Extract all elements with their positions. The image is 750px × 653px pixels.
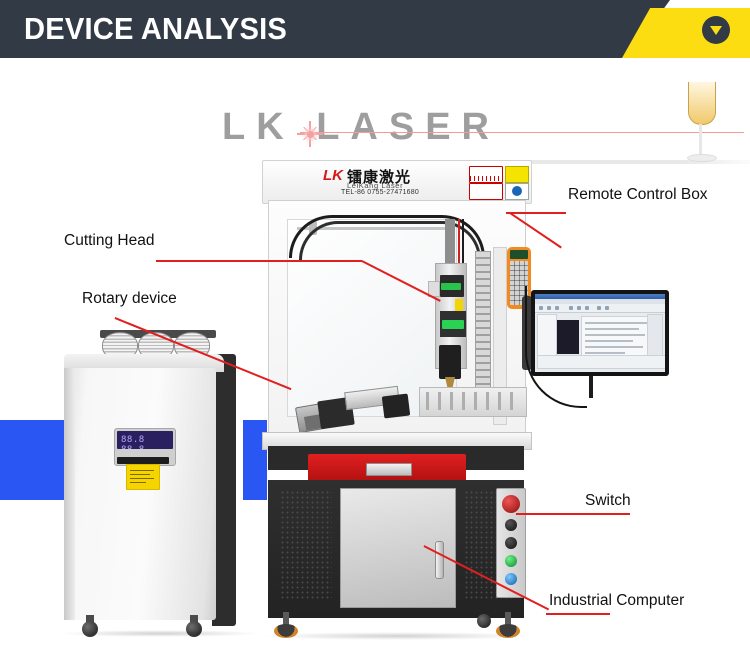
- blue-indicator-button[interactable]: [505, 573, 517, 585]
- brand-mark: LK: [323, 167, 343, 184]
- callout-remote-control-box: Remote Control Box: [568, 186, 708, 204]
- laser-star-icon: [297, 121, 323, 147]
- vent-grille-left: [280, 490, 332, 600]
- laser-hazard-label: [505, 166, 529, 183]
- monitor-stand: [589, 376, 593, 398]
- black-button[interactable]: [505, 519, 517, 531]
- machine-base-cabinet: [268, 480, 524, 618]
- callout-rotary-device: Rotary device: [82, 290, 177, 308]
- laser-cutting-machine: LK 镭康激光 LeiKang Laser TEL-86 0755-274716…: [262, 160, 530, 638]
- watermark-text: LK LASER: [222, 104, 500, 150]
- machine-enclosure: [268, 200, 526, 438]
- page-header: DEVICE ANALYSIS: [0, 0, 750, 58]
- chiller-controller[interactable]: 88.8 88.8: [114, 428, 176, 466]
- rating-label-red-2: [469, 183, 503, 200]
- machine-shadow: [262, 632, 532, 640]
- brand-telephone: TEL-86 0755-27471680: [341, 189, 419, 196]
- switch-control-panel[interactable]: [496, 488, 526, 598]
- door-handle[interactable]: [435, 541, 444, 579]
- green-start-button[interactable]: [505, 555, 517, 567]
- chiller-keypad[interactable]: [117, 457, 169, 464]
- page-title: DEVICE ANALYSIS: [24, 11, 287, 47]
- black-button[interactable]: [505, 537, 517, 549]
- chiller-shadow: [60, 630, 260, 637]
- rating-label-red: [469, 166, 503, 183]
- drawer-handle[interactable]: [366, 463, 412, 476]
- work-bed: [419, 387, 527, 417]
- leader-line-cutting-head: [156, 260, 362, 262]
- brand-watermark: LK LASER: [222, 104, 542, 154]
- chiller-front-edge: [64, 368, 75, 620]
- rotary-device-assembly: [297, 379, 407, 435]
- caster-wheel: [476, 610, 492, 628]
- leader-line-industrial-computer: [546, 613, 610, 615]
- industrial-computer-door[interactable]: [340, 488, 456, 608]
- machine-brand-logo: LK 镭康激光 LeiKang Laser TEL-86 0755-274716…: [323, 165, 443, 199]
- chiller-body: [64, 368, 216, 620]
- leader-line-switch: [516, 513, 630, 515]
- emergency-stop-button[interactable]: [502, 495, 520, 513]
- certification-label: [505, 183, 529, 200]
- warning-label: [126, 464, 160, 490]
- caret-down-icon[interactable]: [702, 16, 730, 44]
- machine-top-fascia: LK 镭康激光 LeiKang Laser TEL-86 0755-274716…: [262, 160, 532, 204]
- pendant-screen: [510, 250, 528, 259]
- laser-beam-line: [300, 132, 744, 133]
- monitor-cable: [525, 286, 587, 408]
- device-analysis-page: DEVICE ANALYSIS LK LASER 88.8 88.8: [0, 0, 750, 653]
- callout-switch: Switch: [585, 492, 631, 510]
- leader-line-remote-control-box: [506, 212, 566, 214]
- water-chiller-unit: 88.8 88.8: [62, 330, 262, 630]
- callout-cutting-head: Cutting Head: [64, 232, 154, 250]
- callout-industrial-computer: Industrial Computer: [549, 592, 684, 610]
- monitor-display: [527, 290, 669, 398]
- chiller-temperature-readout: 88.8 88.8: [121, 435, 173, 449]
- wine-glass-graphic: [684, 82, 718, 170]
